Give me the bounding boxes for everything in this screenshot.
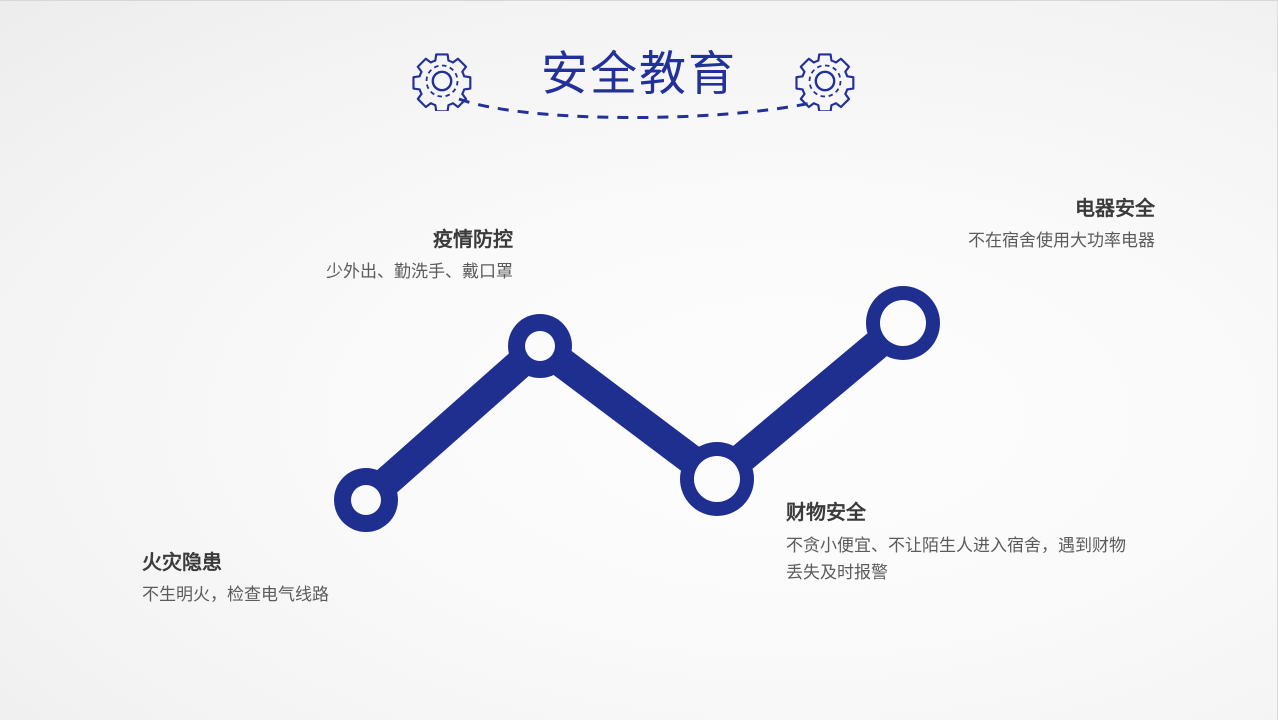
label-desc-property: 不贪小便宜、不让陌生人进入宿舍，遇到财物丢失及时报警 bbox=[786, 532, 1134, 586]
chart-node-epidemic bbox=[508, 314, 572, 378]
label-block-electric: 电器安全 不在宿舍使用大功率电器 bbox=[850, 195, 1155, 254]
label-title-epidemic: 疫情防控 bbox=[255, 226, 513, 254]
chart-node-electric bbox=[866, 286, 940, 360]
label-title-electric: 电器安全 bbox=[850, 195, 1155, 223]
label-block-epidemic: 疫情防控 少外出、勤洗手、戴口罩 bbox=[255, 226, 513, 285]
label-title-property: 财物安全 bbox=[786, 499, 1134, 527]
chart-line bbox=[366, 323, 903, 500]
chart-node-property bbox=[680, 442, 754, 516]
chart-node-fire bbox=[334, 468, 398, 532]
label-desc-fire: 不生明火，检查电气线路 bbox=[142, 582, 462, 608]
label-desc-electric: 不在宿舍使用大功率电器 bbox=[850, 228, 1155, 254]
label-desc-epidemic: 少外出、勤洗手、戴口罩 bbox=[255, 259, 513, 285]
slide-canvas: 安全教育 疫情防控 bbox=[0, 0, 1278, 720]
line-chart-graphic bbox=[0, 1, 1278, 720]
label-block-fire: 火灾隐患 不生明火，检查电气线路 bbox=[142, 549, 462, 608]
label-block-property: 财物安全 不贪小便宜、不让陌生人进入宿舍，遇到财物丢失及时报警 bbox=[786, 499, 1134, 586]
label-title-fire: 火灾隐患 bbox=[142, 549, 462, 577]
